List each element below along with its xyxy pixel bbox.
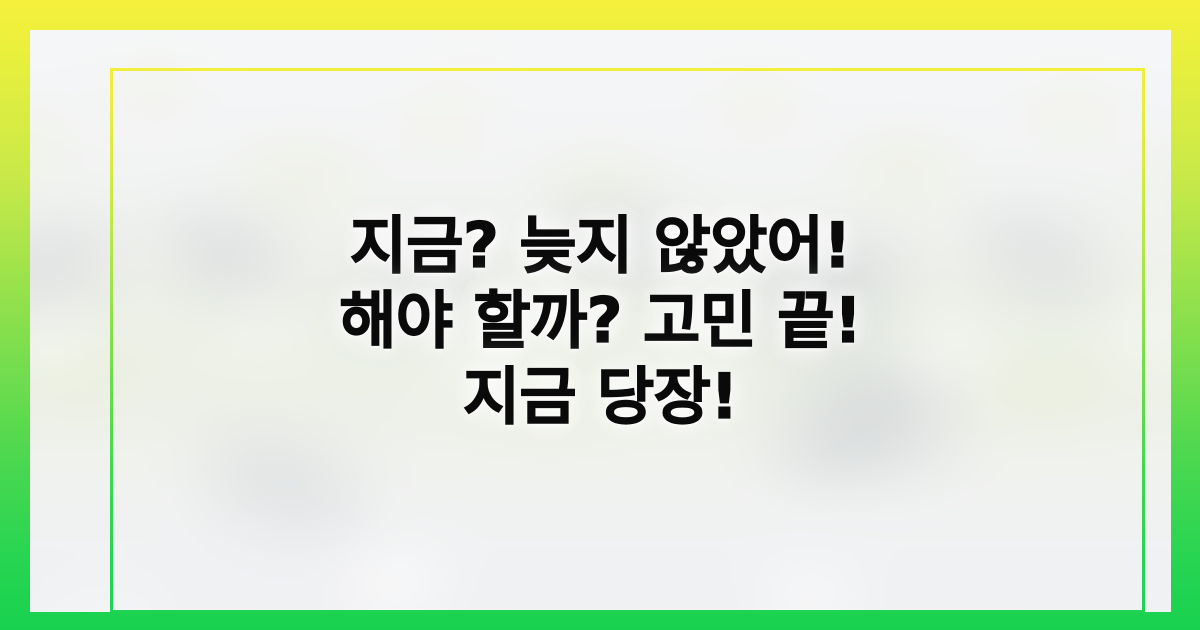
- headline-text: 지금? 늦지 않았어! 해야 할까? 고민 끝! 지금 당장!: [279, 208, 921, 435]
- headline-block: 지금? 늦지 않았어! 해야 할까? 고민 끝! 지금 당장!: [30, 30, 1171, 612]
- headline-line-1: 지금? 늦지 않았어!: [339, 208, 861, 284]
- content-panel: 지금? 늦지 않았어! 해야 할까? 고민 끝! 지금 당장!: [30, 30, 1171, 612]
- headline-line-2: 해야 할까? 고민 끝!: [339, 283, 861, 359]
- headline-line-3: 지금 당장!: [339, 359, 861, 435]
- thumbnail-card: 지금? 늦지 않았어! 해야 할까? 고민 끝! 지금 당장!: [0, 0, 1200, 630]
